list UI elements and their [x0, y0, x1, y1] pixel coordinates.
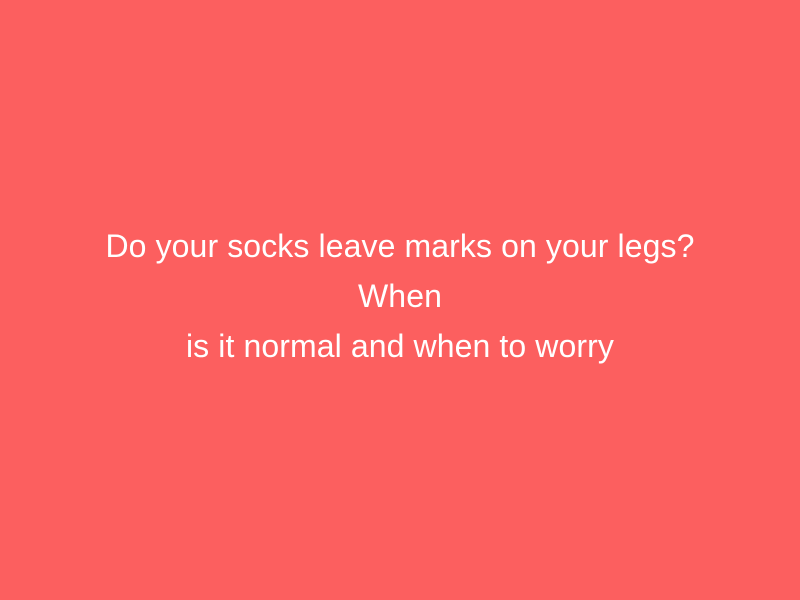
headline-block: Do your socks leave marks on your legs? …: [40, 221, 760, 371]
headline-card: Do your socks leave marks on your legs? …: [0, 0, 800, 600]
page-title: Do your socks leave marks on your legs? …: [80, 221, 720, 371]
